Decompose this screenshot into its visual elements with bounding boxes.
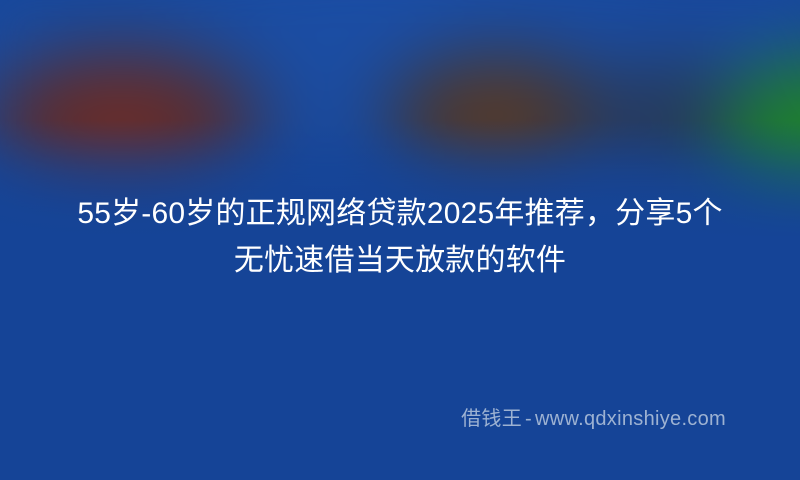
watermark: 借钱王-www.qdxinshiye.com <box>461 406 726 432</box>
watermark-separator: - <box>522 408 535 430</box>
headline-line-2: 无忧速借当天放款的软件 <box>0 237 800 284</box>
watermark-url: www.qdxinshiye.com <box>535 408 726 430</box>
banner-image: 55岁-60岁的正规网络贷款2025年推荐，分享5个 无忧速借当天放款的软件 借… <box>0 0 800 480</box>
watermark-brand: 借钱王 <box>461 408 522 430</box>
headline-line-1: 55岁-60岁的正规网络贷款2025年推荐，分享5个 <box>0 190 800 237</box>
headline-title: 55岁-60岁的正规网络贷款2025年推荐，分享5个 无忧速借当天放款的软件 <box>0 190 800 284</box>
